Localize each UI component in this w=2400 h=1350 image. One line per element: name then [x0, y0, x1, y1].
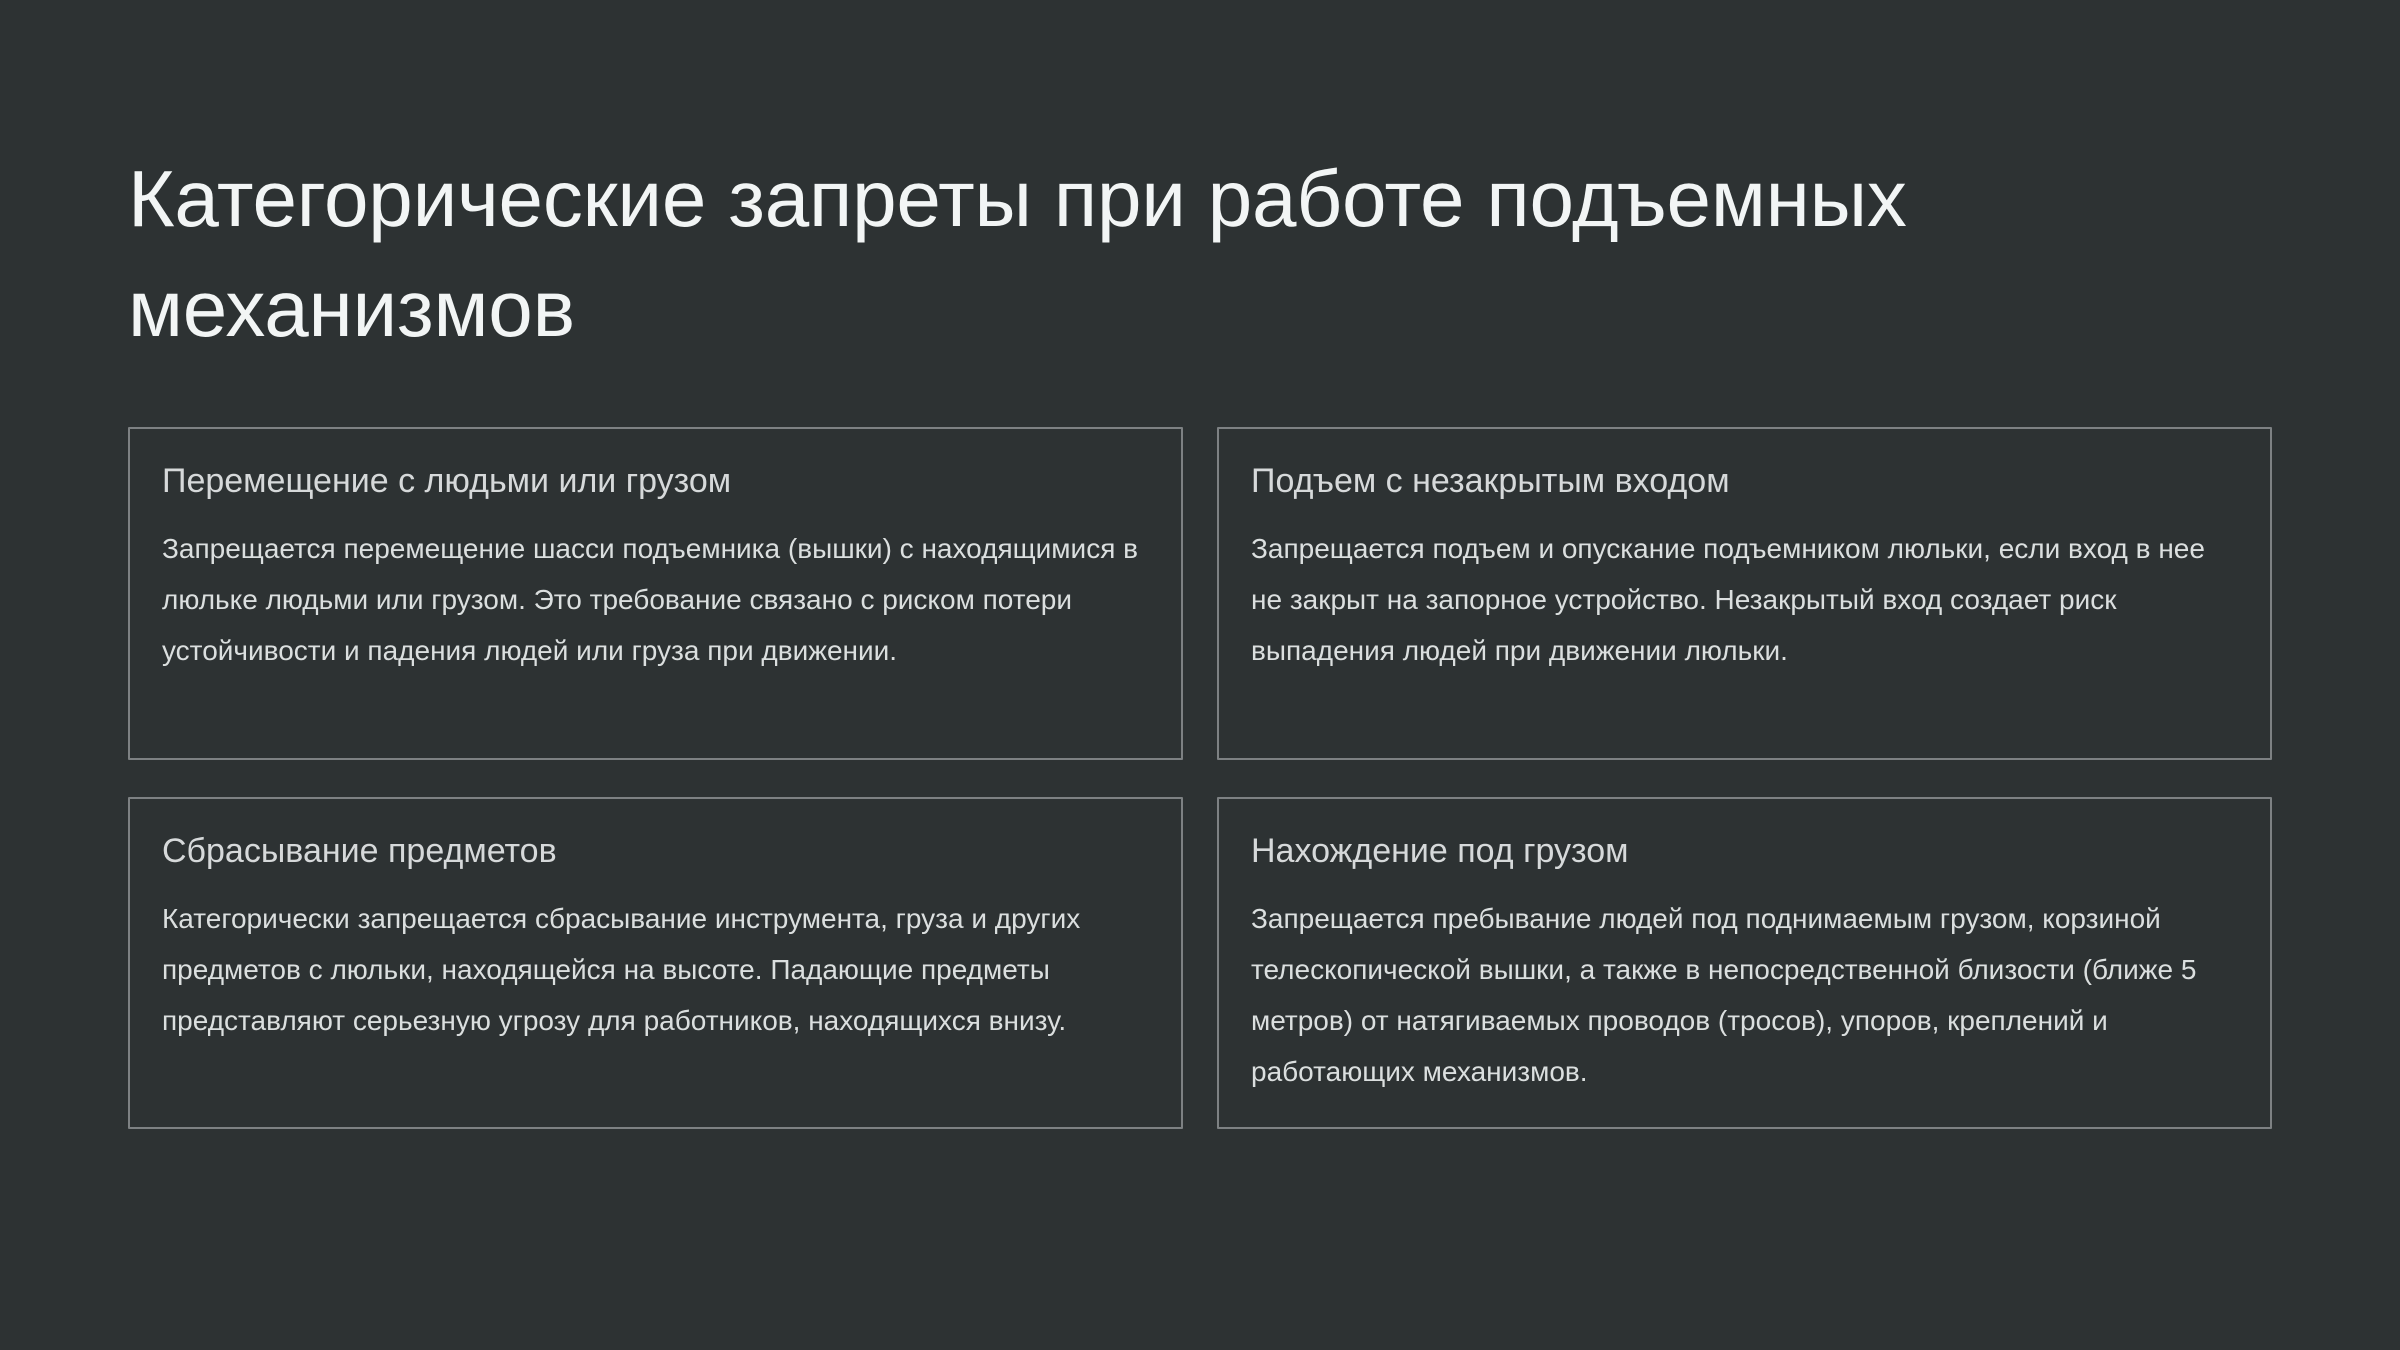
prohibitions-card-grid: Перемещение с людьми или грузом Запрещае… [128, 427, 2272, 1129]
prohibition-card-3-title: Сбрасывание предметов [162, 829, 1149, 873]
prohibition-card-4: Нахождение под грузом Запрещается пребыв… [1217, 797, 2272, 1129]
prohibition-card-2-title: Подъем с незакрытым входом [1251, 459, 2238, 503]
prohibition-card-4-body: Запрещается пребывание людей под поднима… [1251, 893, 2238, 1097]
slide-root: Категорические запреты при работе подъем… [0, 0, 2400, 1350]
prohibition-card-3-body: Категорически запрещается сбрасывание ин… [162, 893, 1149, 1046]
page-title: Категорические запреты при работе подъем… [128, 144, 2128, 364]
prohibition-card-3: Сбрасывание предметов Категорически запр… [128, 797, 1183, 1129]
prohibition-card-1-body: Запрещается перемещение шасси подъемника… [162, 523, 1149, 676]
prohibition-card-1: Перемещение с людьми или грузом Запрещае… [128, 427, 1183, 760]
prohibition-card-4-title: Нахождение под грузом [1251, 829, 2238, 873]
prohibition-card-2-body: Запрещается подъем и опускание подъемник… [1251, 523, 2238, 676]
prohibition-card-2: Подъем с незакрытым входом Запрещается п… [1217, 427, 2272, 760]
prohibition-card-1-title: Перемещение с людьми или грузом [162, 459, 1149, 503]
